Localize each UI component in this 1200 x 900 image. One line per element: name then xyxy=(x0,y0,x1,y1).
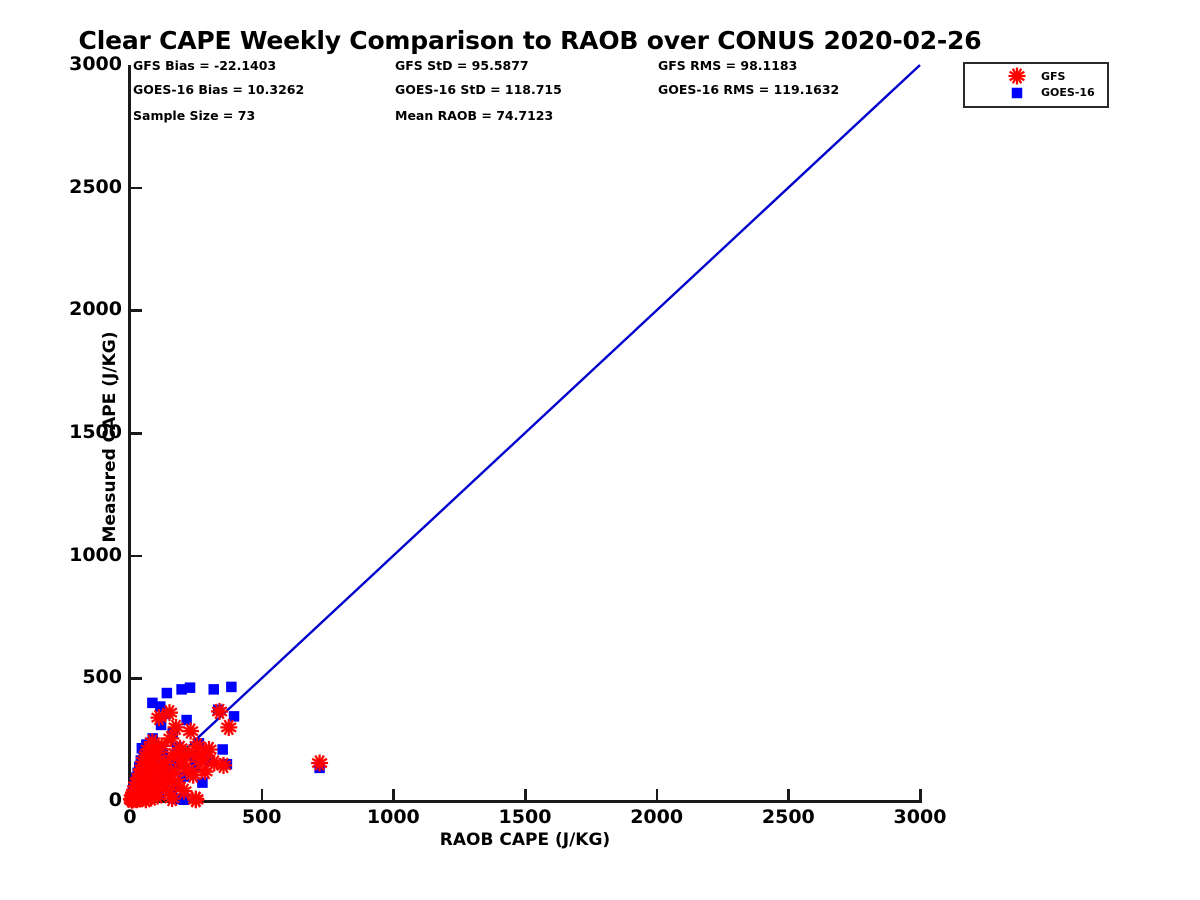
legend-marker-asterisk xyxy=(1009,68,1026,85)
data-point-goes16 xyxy=(217,744,228,755)
chart-title: Clear CAPE Weekly Comparison to RAOB ove… xyxy=(0,26,1060,55)
x-tick-label: 2500 xyxy=(728,806,848,828)
data-point-goes16 xyxy=(229,711,240,722)
data-point-goes16 xyxy=(208,684,219,695)
data-point-goes16 xyxy=(226,682,237,693)
chart-root: Clear CAPE Weekly Comparison to RAOB ove… xyxy=(0,0,1200,900)
legend-label-gfs: GFS xyxy=(1041,70,1065,83)
legend-marker-square xyxy=(1012,88,1023,99)
x-axis-label: RAOB CAPE (J/KG) xyxy=(130,830,920,850)
series-gfs xyxy=(123,703,328,809)
data-point-goes16 xyxy=(185,682,196,693)
x-tick-label: 1000 xyxy=(333,806,453,828)
one-to-one-reference-line xyxy=(130,65,920,801)
scatter-svg xyxy=(130,65,920,801)
plot-data-area xyxy=(130,65,920,801)
data-point-goes16 xyxy=(162,688,173,699)
x-tick-label: 3000 xyxy=(860,806,980,828)
legend-marker-swatches xyxy=(1003,65,1031,105)
x-tick-label: 1500 xyxy=(465,806,585,828)
legend: GFS GOES-16 xyxy=(963,62,1109,108)
x-tick-label: 2000 xyxy=(597,806,717,828)
x-tick-label: 500 xyxy=(202,806,322,828)
legend-label-goes16: GOES-16 xyxy=(1041,86,1095,99)
x-tick-label: 0 xyxy=(70,806,190,828)
data-point-gfs xyxy=(311,754,328,771)
y-axis-label: Measured CAPE (J/KG) xyxy=(100,69,120,805)
